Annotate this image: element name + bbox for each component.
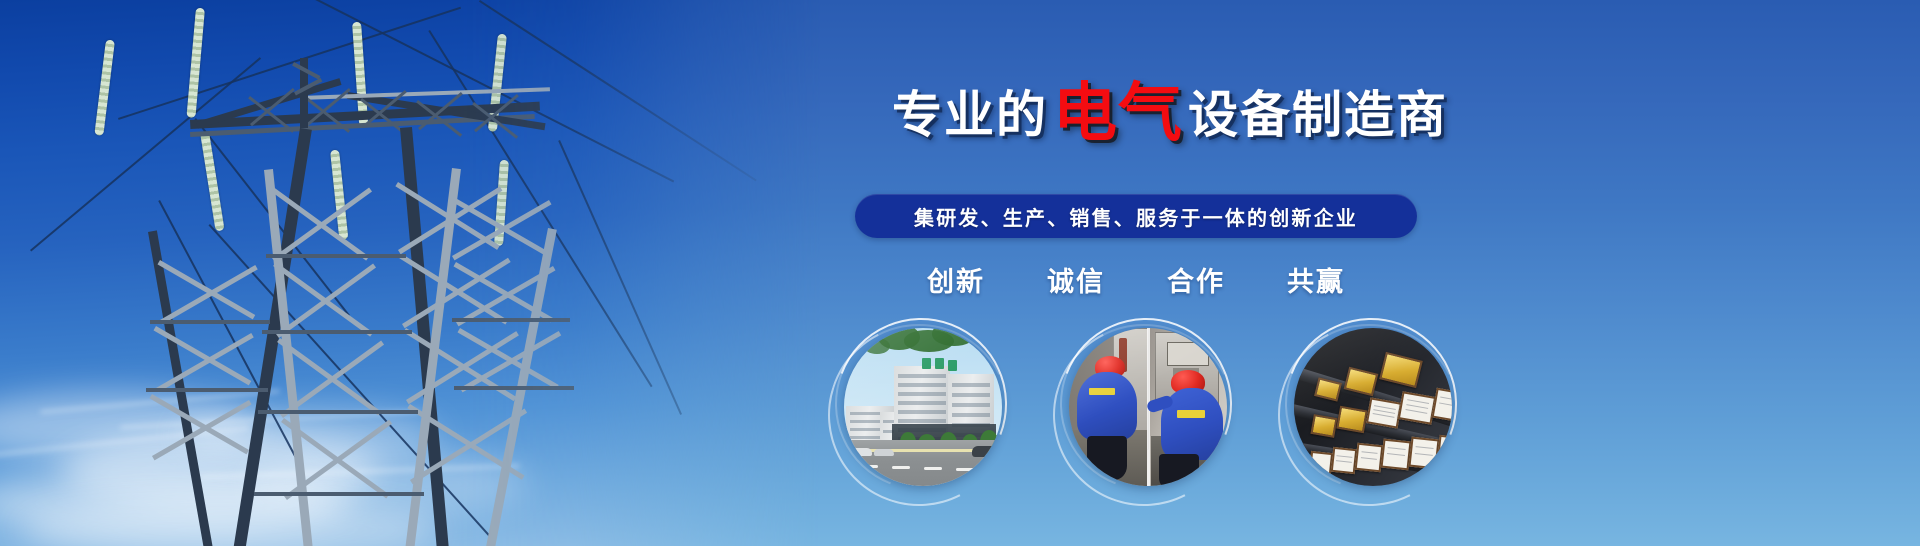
keyword-winwin: 共赢 (1287, 260, 1345, 299)
hero-banner: 专业的 电气 设备制造商 集研发、生产、销售、服务于一体的创新企业 创新 诚信 … (0, 0, 1920, 546)
keyword-integrity: 诚信 (1047, 260, 1105, 299)
certificate-wall-image (1294, 328, 1452, 486)
workers-image (1069, 328, 1227, 486)
headline-accent: 电气 (1053, 81, 1183, 145)
photo-circle-office-building[interactable] (840, 322, 990, 492)
headline-prefix: 专业的 (892, 90, 1048, 140)
photo-circle-group (840, 322, 1440, 502)
keyword-list: 创新 诚信 合作 共赢 (855, 258, 1417, 300)
headline-suffix: 设备制造商 (1188, 90, 1448, 140)
subtitle-text: 集研发、生产、销售、服务于一体的创新企业 (914, 202, 1358, 231)
keyword-innovation: 创新 (927, 260, 985, 299)
lattice-tower (0, 0, 820, 546)
office-building-image (844, 328, 1002, 486)
keyword-cooperation: 合作 (1167, 260, 1225, 299)
transmission-tower-photo (0, 0, 820, 546)
photo-circle-certificates[interactable] (1290, 322, 1440, 492)
photo-circle-workers[interactable] (1065, 322, 1215, 492)
subtitle-pill: 集研发、生产、销售、服务于一体的创新企业 (855, 194, 1417, 238)
page-title: 专业的 电气 设备制造商 (860, 82, 1480, 148)
